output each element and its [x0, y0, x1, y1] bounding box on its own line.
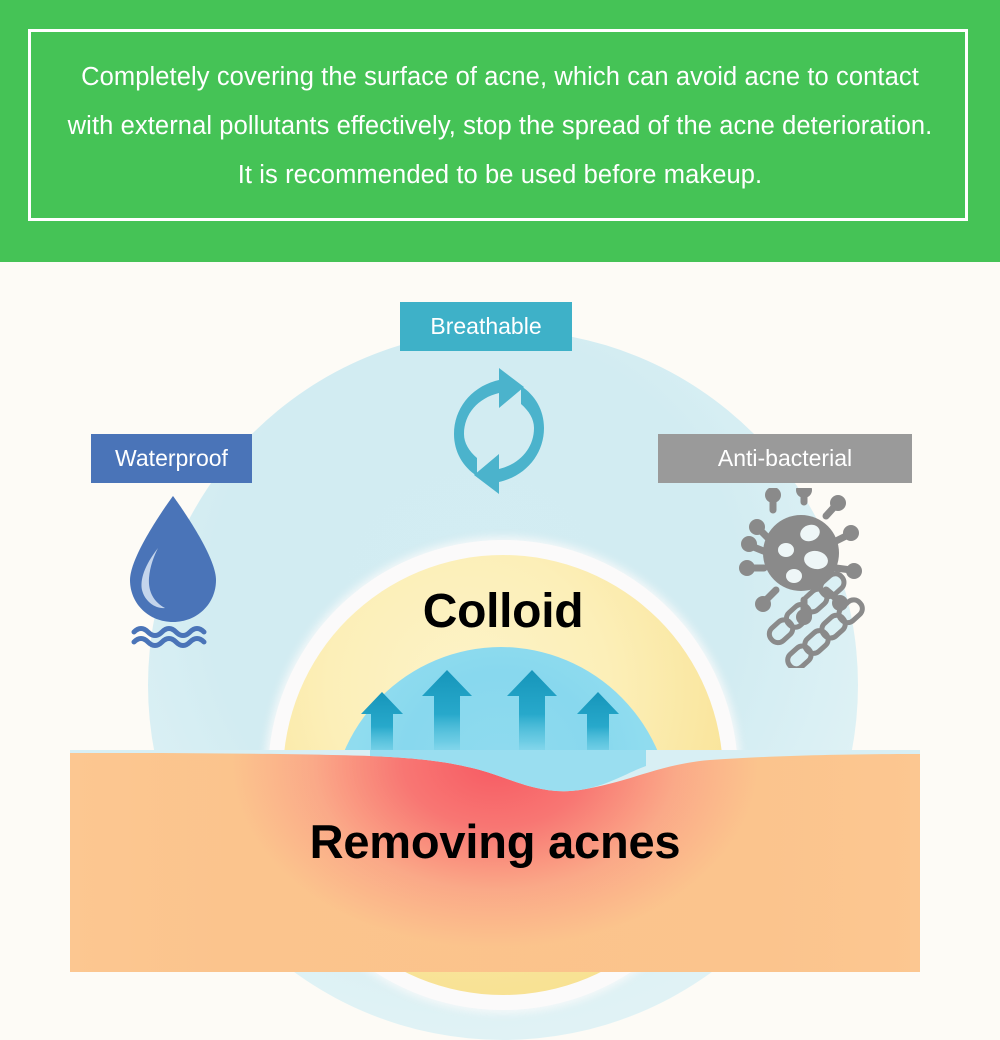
badge-breathable-label: Breathable [430, 313, 541, 340]
poster-root: Completely covering the surface of acne,… [0, 0, 1000, 1000]
badge-anti-bacterial-label: Anti-bacterial [718, 445, 852, 472]
badge-waterproof[interactable]: Waterproof [91, 434, 252, 483]
product-mechanism-diagram: Breathable Waterproof Anti-bacterial [0, 262, 1000, 1000]
badge-waterproof-label: Waterproof [115, 445, 228, 472]
water-drop-icon [118, 492, 228, 652]
header-banner: Completely covering the surface of acne,… [0, 0, 1000, 262]
colloid-label: Colloid [283, 584, 723, 639]
badge-anti-bacterial[interactable]: Anti-bacterial [658, 434, 912, 483]
recycle-arrows-icon [440, 366, 558, 496]
badge-breathable[interactable]: Breathable [400, 302, 572, 351]
virus-bacteria-icon [718, 488, 898, 668]
header-description-text: Completely covering the surface of acne,… [40, 44, 960, 208]
removing-acnes-label: Removing acnes [70, 814, 920, 869]
